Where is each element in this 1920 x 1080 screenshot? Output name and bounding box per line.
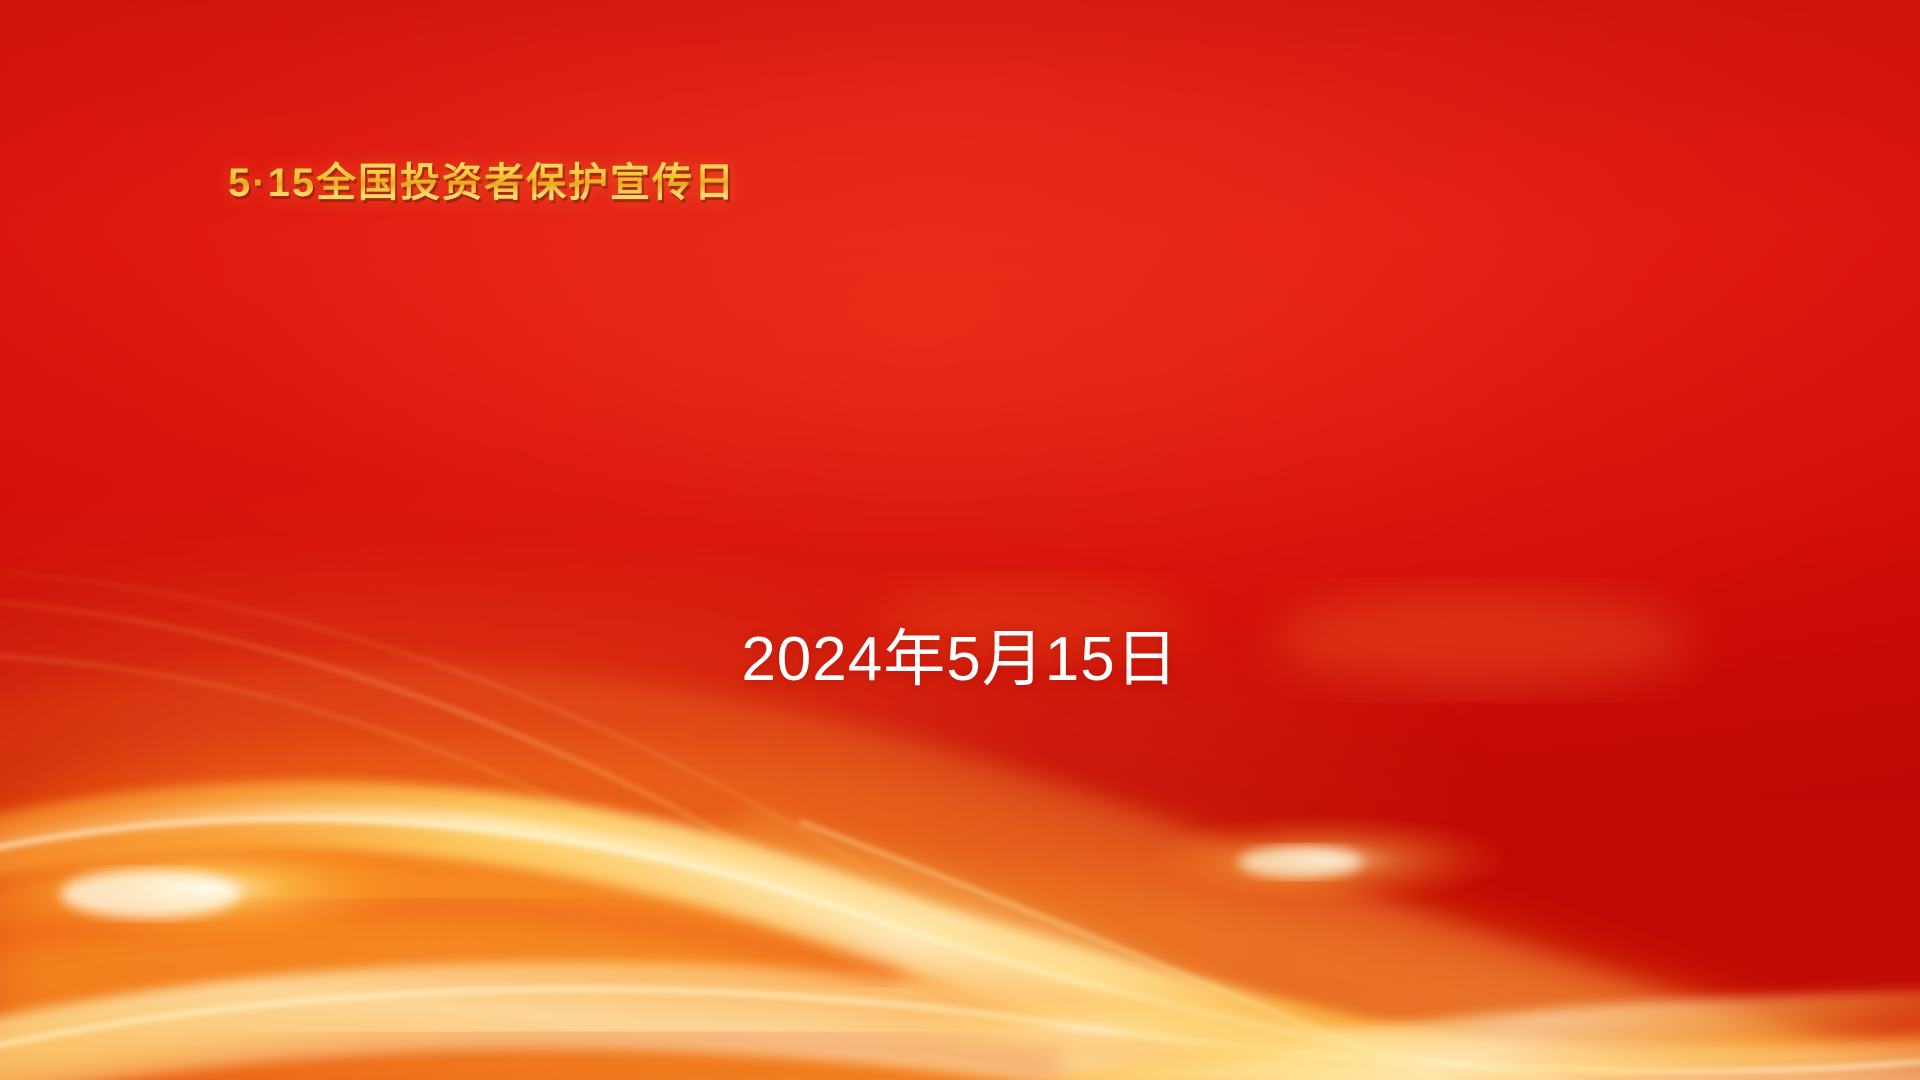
poster-content: 5·15全国投资者保护宣传日 心系投资者携手共行动 2024年5月15日 <box>0 0 1920 1080</box>
event-date: 2024年5月15日 <box>0 608 1920 698</box>
main-slogan-part-2: 携手共行动 <box>984 249 1751 412</box>
main-slogan-part-1: 心系投资者 <box>170 249 937 412</box>
main-slogan: 心系投资者携手共行动 <box>0 252 1920 411</box>
campaign-subtitle: 5·15全国投资者保护宣传日 <box>228 150 736 208</box>
poster-canvas: 5·15全国投资者保护宣传日 心系投资者携手共行动 2024年5月15日 <box>0 0 1920 1080</box>
